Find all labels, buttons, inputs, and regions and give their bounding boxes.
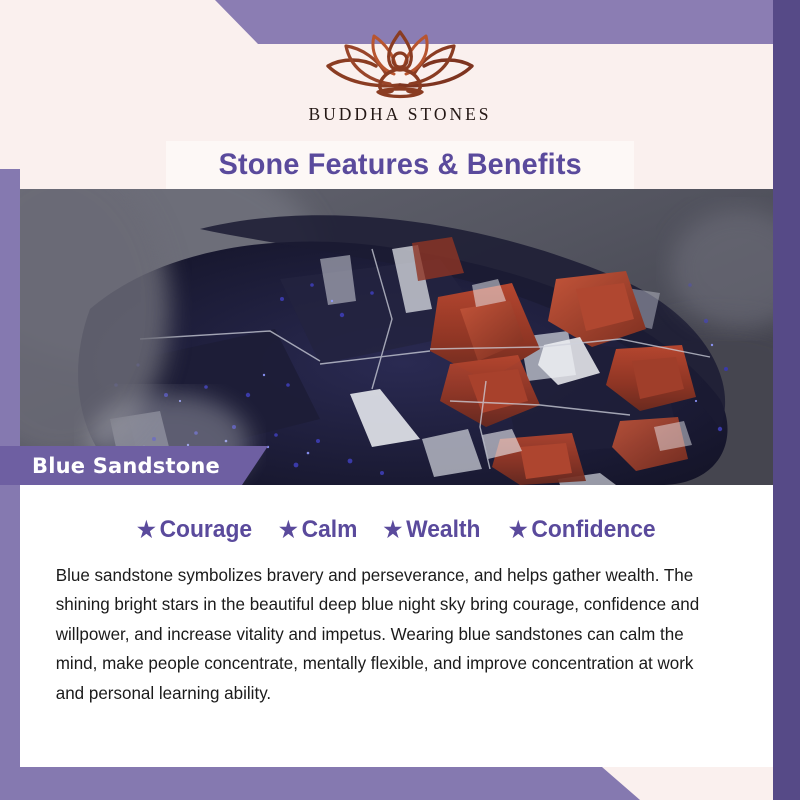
stone-name-badge: Blue Sandstone <box>0 446 268 485</box>
stone-description: Blue sandstone symbolizes bravery and pe… <box>38 561 744 708</box>
benefits-row: ★ Courage ★ Calm ★ Wealth ★ Confidence <box>38 485 755 544</box>
content-panel: ★ Courage ★ Calm ★ Wealth ★ Confidence B… <box>20 485 773 767</box>
frame-bottom-accent <box>0 767 800 800</box>
star-icon: ★ <box>384 519 403 541</box>
title-banner: Stone Features & Benefits <box>166 141 634 189</box>
benefit-item-courage: ★ Courage <box>137 516 252 544</box>
benefit-label: Courage <box>159 516 251 544</box>
lotus-meditation-icon <box>316 22 484 100</box>
stone-photo <box>20 189 773 485</box>
star-icon: ★ <box>279 519 298 541</box>
star-icon: ★ <box>137 519 156 541</box>
benefit-label: Confidence <box>531 516 655 544</box>
benefit-item-wealth: ★ Wealth <box>384 516 481 544</box>
benefit-item-calm: ★ Calm <box>279 516 357 544</box>
benefit-item-confidence: ★ Confidence <box>509 516 656 544</box>
benefit-label: Wealth <box>406 516 480 544</box>
page-title: Stone Features & Benefits <box>218 148 581 182</box>
brand-header: BUDDHA STONES <box>0 0 800 145</box>
benefit-label: Calm <box>301 516 357 544</box>
stone-name-label: Blue Sandstone <box>0 454 220 478</box>
brand-name: BUDDHA STONES <box>308 104 491 125</box>
star-icon: ★ <box>509 519 528 541</box>
